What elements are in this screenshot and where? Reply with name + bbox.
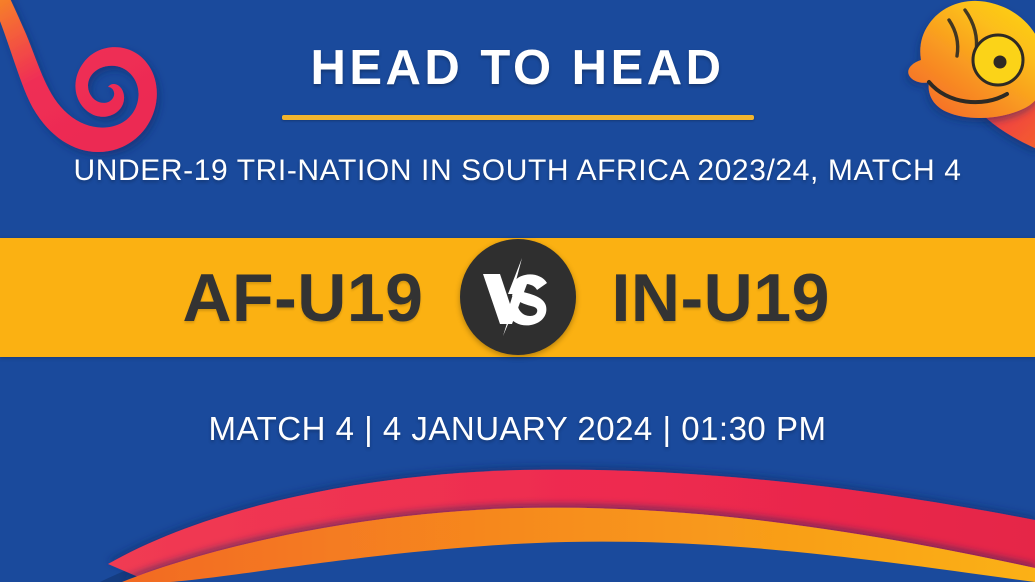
vs-badge bbox=[460, 239, 576, 355]
vs-lightning-icon bbox=[475, 254, 561, 340]
wave-swoosh-icon bbox=[0, 452, 1035, 582]
header: HEAD TO HEAD bbox=[0, 44, 1035, 120]
team-left-name: AF-U19 bbox=[115, 264, 460, 332]
tournament-subtitle: UNDER-19 TRI-NATION IN SOUTH AFRICA 2023… bbox=[0, 154, 1035, 187]
title-underline-rule bbox=[282, 115, 754, 120]
match-details: MATCH 4 | 4 JANUARY 2024 | 01:30 PM bbox=[0, 410, 1035, 448]
page-title: HEAD TO HEAD bbox=[0, 44, 1035, 93]
team-right-name: IN-U19 bbox=[576, 264, 921, 332]
head-to-head-poster: HEAD TO HEAD UNDER-19 TRI-NATION IN SOUT… bbox=[0, 0, 1035, 582]
